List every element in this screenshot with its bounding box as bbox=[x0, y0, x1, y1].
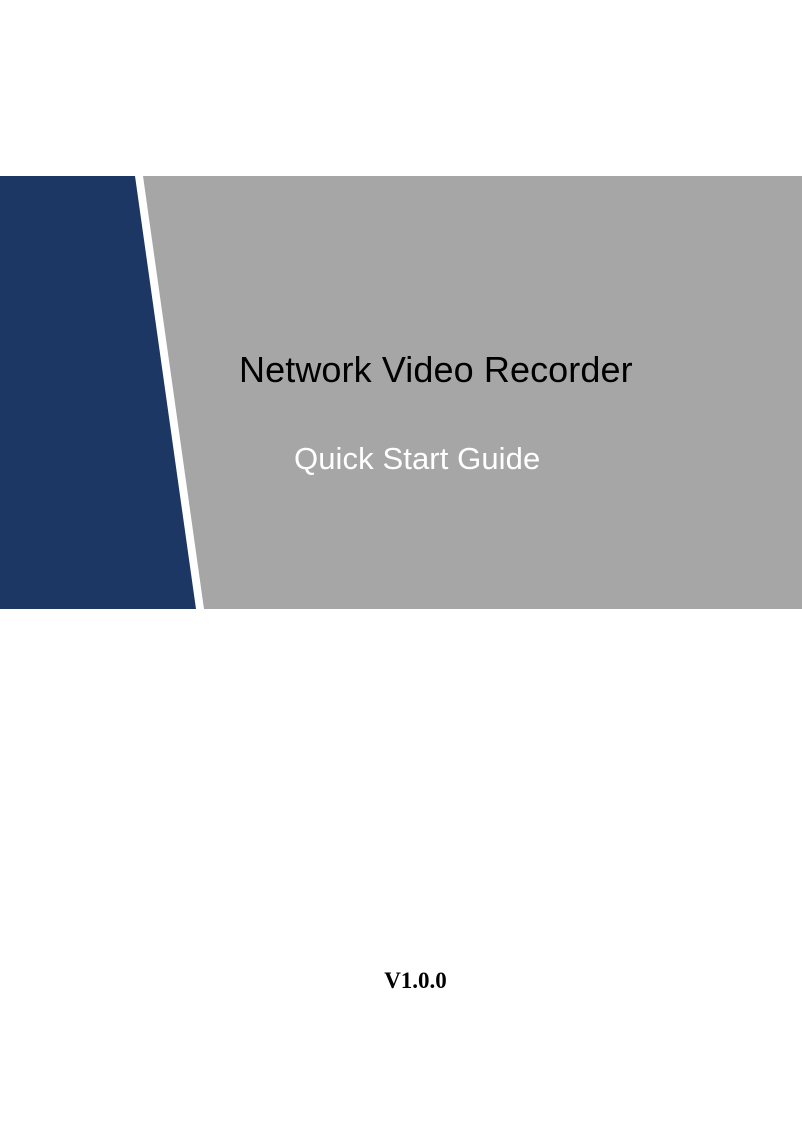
cover-page: Network Video Recorder Quick Start Guide… bbox=[0, 0, 802, 1134]
document-version: V1.0.0 bbox=[0, 967, 802, 995]
cover-text-block: Network Video Recorder Quick Start Guide… bbox=[0, 0, 802, 1134]
page-title: Network Video Recorder bbox=[239, 349, 633, 391]
page-subtitle: Quick Start Guide bbox=[294, 440, 540, 478]
